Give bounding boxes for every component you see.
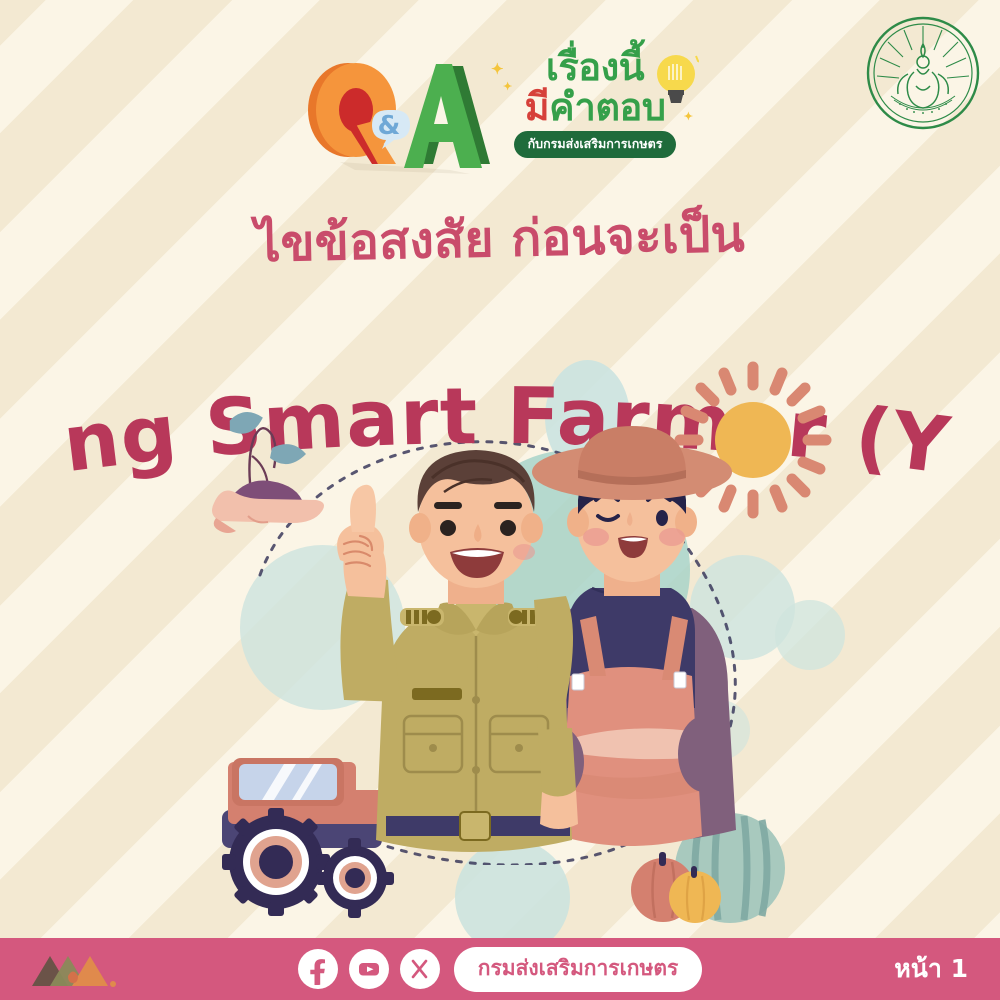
footer-social-group: กรมส่งเสริมการเกษตร bbox=[0, 938, 1000, 1000]
poster-canvas: & ✦ ✦ ✦ เรื่องนี้ มีคำตอบ กับกรมส่งเสริม… bbox=[0, 0, 1000, 1000]
page-number-label: หน้า 1 bbox=[894, 949, 968, 989]
x-icon[interactable] bbox=[400, 949, 440, 989]
hand-holding-seedling-icon bbox=[212, 409, 324, 533]
illustration-group bbox=[0, 0, 1000, 940]
facebook-icon[interactable] bbox=[298, 949, 338, 989]
youtube-icon[interactable] bbox=[349, 949, 389, 989]
footer-department-label: กรมส่งเสริมการเกษตร bbox=[454, 947, 702, 992]
footer-bar: กรมส่งเสริมการเกษตร หน้า 1 bbox=[0, 938, 1000, 1000]
tractor-icon bbox=[222, 758, 394, 918]
